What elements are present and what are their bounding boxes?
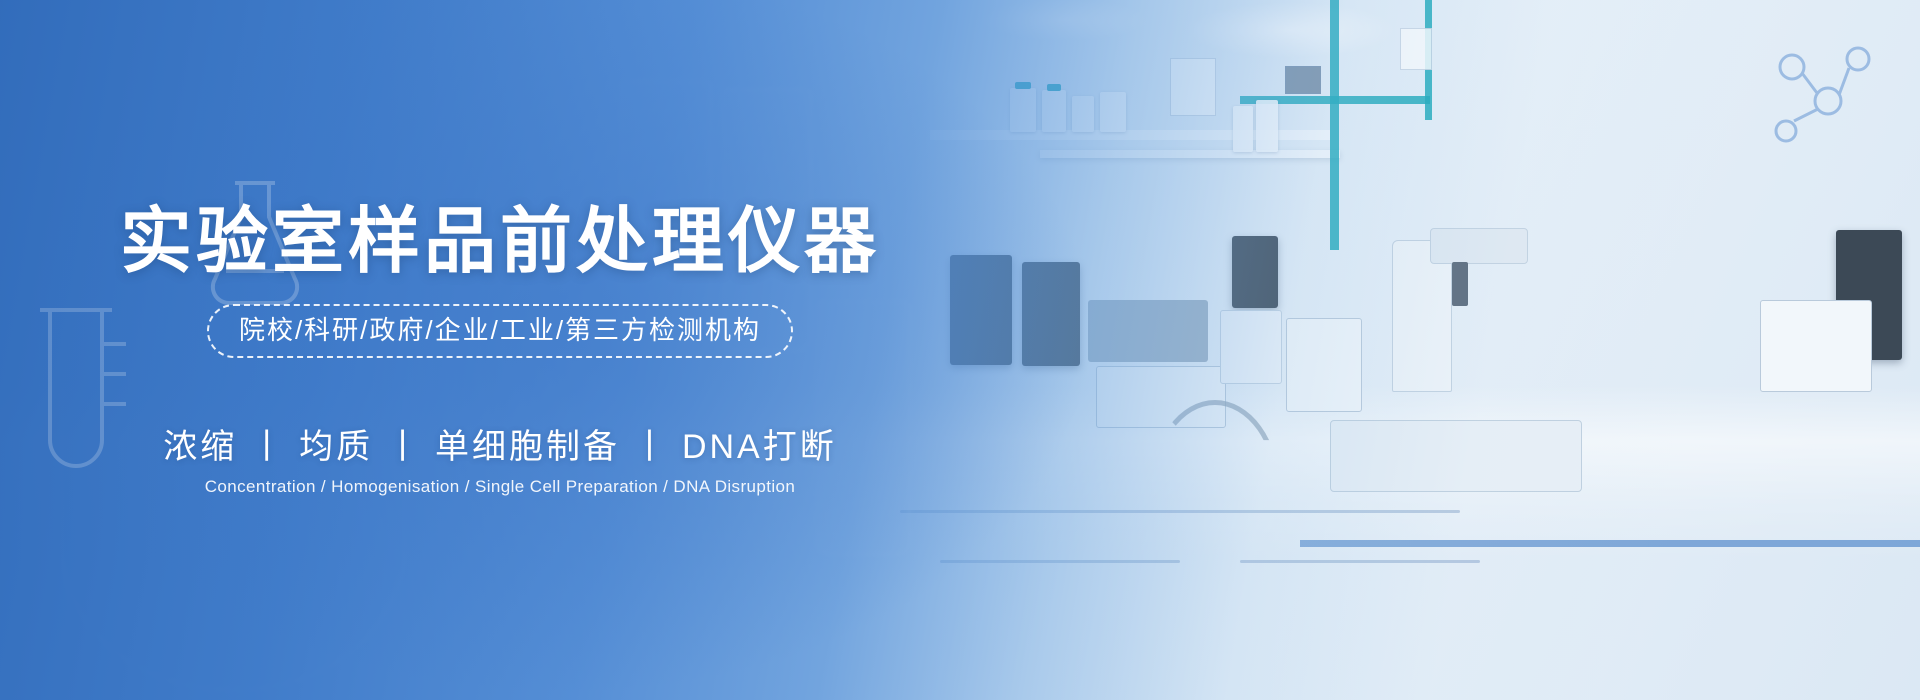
molecule-icon	[1770, 45, 1880, 145]
hero-content: 实验室样品前处理仪器 院校/科研/政府/企业/工业/第三方检测机构 浓缩 丨 均…	[0, 0, 1000, 700]
feature-list-cn: 浓缩 丨 均质 丨 单细胞制备 丨 DNA打断	[163, 430, 836, 464]
page-title: 实验室样品前处理仪器	[120, 206, 880, 278]
audience-badge: 院校/科研/政府/企业/工业/第三方检测机构	[207, 304, 793, 358]
feature-list-en: Concentration / Homogenisation / Single …	[205, 478, 796, 495]
hero-banner: 实验室样品前处理仪器 院校/科研/政府/企业/工业/第三方检测机构 浓缩 丨 均…	[0, 0, 1920, 700]
